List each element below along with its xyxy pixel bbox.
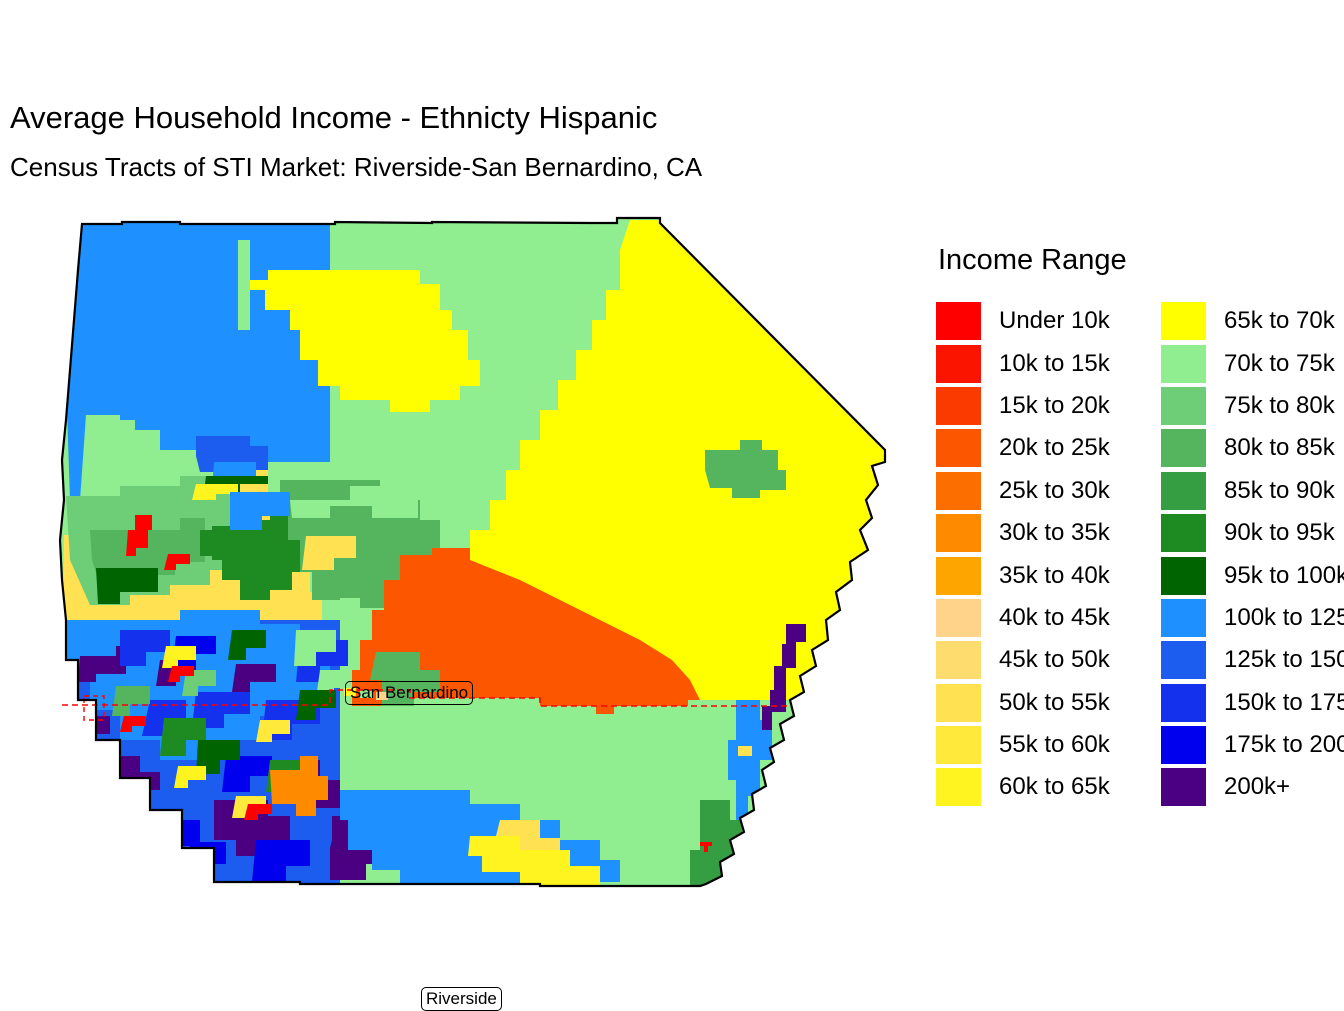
legend-row[interactable]: 70k to 75k [1161, 342, 1344, 384]
legend-swatch [936, 472, 981, 510]
legend-row[interactable]: 175k to 200k [1161, 724, 1344, 766]
legend-label: 85k to 90k [1206, 477, 1335, 505]
legend-label: 55k to 60k [981, 731, 1110, 759]
legend-row[interactable]: 150k to 175k [1161, 682, 1344, 724]
legend-label: 175k to 200k [1206, 731, 1344, 759]
legend-row[interactable]: 75k to 80k [1161, 385, 1344, 427]
legend-swatch [1161, 557, 1206, 595]
legend-row[interactable]: 50k to 55k [936, 682, 1110, 724]
legend-label: 90k to 95k [1206, 519, 1335, 547]
legend-swatch [936, 345, 981, 383]
legend-label: 80k to 85k [1206, 434, 1335, 462]
legend-swatch [936, 599, 981, 637]
legend-label: 25k to 30k [981, 477, 1110, 505]
legend-row[interactable]: 40k to 45k [936, 597, 1110, 639]
legend-row[interactable]: 35k to 40k [936, 554, 1110, 596]
legend-label: 75k to 80k [1206, 392, 1335, 420]
legend-swatch [1161, 429, 1206, 467]
legend-swatch [1161, 387, 1206, 425]
legend-label: 15k to 20k [981, 392, 1110, 420]
legend-swatch [936, 641, 981, 679]
legend-row[interactable]: 95k to 100k [1161, 554, 1344, 596]
map-legend: Income Range Under 10k10k to 15k15k to 2… [930, 244, 1344, 874]
legend-row[interactable]: 125k to 150k [1161, 639, 1344, 681]
legend-label: 125k to 150k [1206, 646, 1344, 674]
legend-label: 10k to 15k [981, 350, 1110, 378]
page-subtitle: Census Tracts of STI Market: Riverside-S… [10, 152, 702, 183]
legend-swatch [1161, 472, 1206, 510]
legend-swatch [936, 387, 981, 425]
legend-row[interactable]: 85k to 90k [1161, 470, 1344, 512]
legend-swatch [1161, 684, 1206, 722]
legend-label: 150k to 175k [1206, 689, 1344, 717]
legend-swatch [1161, 641, 1206, 679]
legend-label: 95k to 100k [1206, 562, 1344, 590]
legend-row[interactable]: 10k to 15k [936, 342, 1110, 384]
legend-swatch [936, 684, 981, 722]
legend-title: Income Range [938, 244, 1127, 277]
legend-label: 60k to 65k [981, 773, 1110, 801]
page-title: Average Household Income - Ethnicty Hisp… [10, 100, 657, 136]
legend-row[interactable]: 100k to 125k [1161, 597, 1344, 639]
legend-label: Under 10k [981, 307, 1110, 335]
legend-swatch [1161, 599, 1206, 637]
legend-row[interactable]: 55k to 60k [936, 724, 1110, 766]
legend-swatch [1161, 726, 1206, 764]
legend-label: 20k to 25k [981, 434, 1110, 462]
legend-label: 30k to 35k [981, 519, 1110, 547]
legend-row[interactable]: 65k to 70k [1161, 300, 1344, 342]
legend-swatch [936, 726, 981, 764]
legend-swatch [1161, 345, 1206, 383]
legend-column-right: 65k to 70k70k to 75k75k to 80k80k to 85k… [1161, 300, 1344, 809]
legend-row[interactable]: 80k to 85k [1161, 427, 1344, 469]
legend-row[interactable]: 25k to 30k [936, 470, 1110, 512]
legend-label: 35k to 40k [981, 562, 1110, 590]
legend-label: 200k+ [1206, 773, 1290, 801]
legend-row[interactable]: 45k to 50k [936, 639, 1110, 681]
legend-swatch [936, 514, 981, 552]
legend-row[interactable]: 90k to 95k [1161, 512, 1344, 554]
legend-row[interactable]: 15k to 20k [936, 385, 1110, 427]
legend-swatch [936, 429, 981, 467]
legend-swatch [1161, 302, 1206, 340]
legend-swatch [936, 768, 981, 806]
legend-row[interactable]: Under 10k [936, 300, 1110, 342]
legend-column-left: Under 10k10k to 15k15k to 20k20k to 25k2… [936, 300, 1110, 809]
legend-label: 50k to 55k [981, 689, 1110, 717]
choropleth-map[interactable]: San Bernardino Riverside [0, 200, 910, 900]
city-label-san-bernardino[interactable]: San Bernardino [345, 681, 473, 705]
legend-label: 70k to 75k [1206, 350, 1335, 378]
legend-swatch [936, 302, 981, 340]
legend-label: 65k to 70k [1206, 307, 1335, 335]
map-page: Average Household Income - Ethnicty Hisp… [0, 0, 1344, 1008]
legend-row[interactable]: 60k to 65k [936, 766, 1110, 808]
legend-label: 100k to 125k [1206, 604, 1344, 632]
legend-row[interactable]: 20k to 25k [936, 427, 1110, 469]
legend-row[interactable]: 30k to 35k [936, 512, 1110, 554]
legend-label: 45k to 50k [981, 646, 1110, 674]
map-svg [0, 200, 910, 900]
legend-swatch [936, 557, 981, 595]
legend-label: 40k to 45k [981, 604, 1110, 632]
legend-swatch [1161, 514, 1206, 552]
city-label-riverside[interactable]: Riverside [421, 987, 502, 1011]
legend-row[interactable]: 200k+ [1161, 766, 1344, 808]
legend-swatch [1161, 768, 1206, 806]
